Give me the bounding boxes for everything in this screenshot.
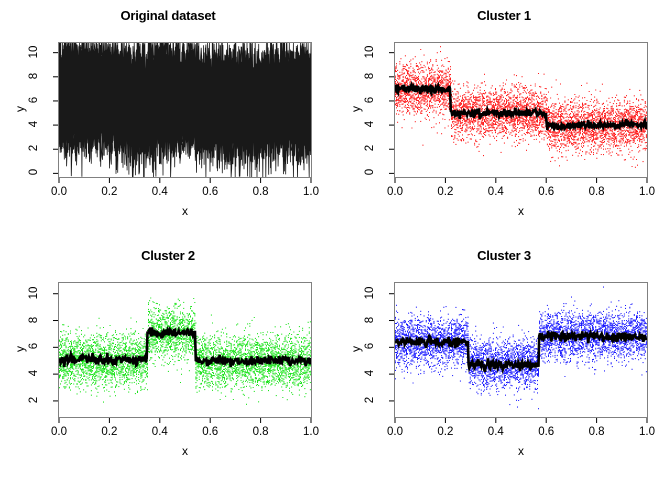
x-tick-label: 0.0	[43, 186, 75, 198]
x-axis-title: x	[501, 204, 541, 218]
y-axis-title: y	[349, 99, 363, 119]
x-tick-label: 0.6	[530, 186, 562, 198]
panel-title: Cluster 2	[0, 248, 336, 263]
y-tick-label: 6	[28, 89, 40, 111]
y-tick-label: 6	[364, 89, 376, 111]
y-tick-label: 2	[28, 389, 40, 411]
panel-cluster-1: Cluster 1 0.00.20.40.60.81.00246810xy	[336, 0, 672, 240]
y-tick-label: 10	[364, 41, 376, 63]
x-tick-label: 0.0	[379, 426, 411, 438]
x-tick-label: 0.8	[581, 426, 613, 438]
panel-original-dataset: Original dataset 0.00.20.40.60.81.002468…	[0, 0, 336, 240]
x-tick-label: 0.4	[480, 426, 512, 438]
series-canvas	[59, 283, 311, 417]
y-tick-label: 8	[364, 309, 376, 331]
panel-title: Original dataset	[0, 8, 336, 23]
series-all-curves-overlay	[59, 43, 311, 177]
y-tick-label: 6	[28, 335, 40, 357]
x-tick-label: 0.8	[245, 186, 277, 198]
figure-canvas: Original dataset 0.00.20.40.60.81.002468…	[0, 0, 672, 480]
panel-cluster-3: Cluster 3 0.00.20.40.60.81.0246810xy	[336, 240, 672, 480]
x-axis-title: x	[165, 444, 205, 458]
y-tick-label: 2	[28, 137, 40, 159]
plot-area	[58, 42, 312, 178]
series-canvas	[395, 283, 647, 417]
x-tick-label: 0.4	[144, 186, 176, 198]
y-tick-label: 10	[28, 282, 40, 304]
y-tick-label: 10	[28, 41, 40, 63]
y-tick-label: 2	[364, 137, 376, 159]
y-tick-label: 4	[364, 113, 376, 135]
plot-area	[394, 282, 648, 418]
x-tick-label: 0.2	[429, 186, 461, 198]
y-tick-label: 6	[364, 335, 376, 357]
x-axis-title: x	[501, 444, 541, 458]
y-axis-title: y	[13, 99, 27, 119]
y-tick-label: 0	[28, 161, 40, 183]
y-tick-label: 8	[364, 65, 376, 87]
x-tick-label: 1.0	[631, 186, 663, 198]
y-tick-label: 10	[364, 282, 376, 304]
series-cluster-1-members	[395, 47, 647, 168]
panel-title: Cluster 3	[336, 248, 672, 263]
x-tick-label: 0.6	[194, 186, 226, 198]
x-tick-label: 0.6	[530, 426, 562, 438]
y-tick-label: 8	[28, 65, 40, 87]
x-tick-label: 0.2	[93, 186, 125, 198]
x-tick-label: 0.4	[480, 186, 512, 198]
y-tick-label: 4	[28, 113, 40, 135]
y-tick-label: 8	[28, 309, 40, 331]
series-canvas	[395, 43, 647, 177]
x-tick-label: 0.0	[43, 426, 75, 438]
series-cluster-2-members	[59, 298, 311, 404]
series-canvas	[59, 43, 311, 177]
series-cluster-3-members	[395, 287, 647, 409]
y-axis-title: y	[349, 339, 363, 359]
y-axis-title: y	[13, 339, 27, 359]
x-tick-label: 1.0	[295, 426, 327, 438]
panel-title: Cluster 1	[336, 8, 672, 23]
x-tick-label: 0.2	[93, 426, 125, 438]
x-tick-label: 0.6	[194, 426, 226, 438]
plot-area	[58, 282, 312, 418]
panel-cluster-2: Cluster 2 0.00.20.40.60.81.0246810xy	[0, 240, 336, 480]
x-tick-label: 0.8	[245, 426, 277, 438]
x-tick-label: 0.8	[581, 186, 613, 198]
y-tick-label: 0	[364, 161, 376, 183]
y-tick-label: 4	[28, 362, 40, 384]
x-tick-label: 0.0	[379, 186, 411, 198]
x-tick-label: 1.0	[631, 426, 663, 438]
x-tick-label: 0.4	[144, 426, 176, 438]
y-tick-label: 4	[364, 362, 376, 384]
x-tick-label: 0.2	[429, 426, 461, 438]
x-axis-title: x	[165, 204, 205, 218]
y-tick-label: 2	[364, 389, 376, 411]
plot-area	[394, 42, 648, 178]
x-tick-label: 1.0	[295, 186, 327, 198]
